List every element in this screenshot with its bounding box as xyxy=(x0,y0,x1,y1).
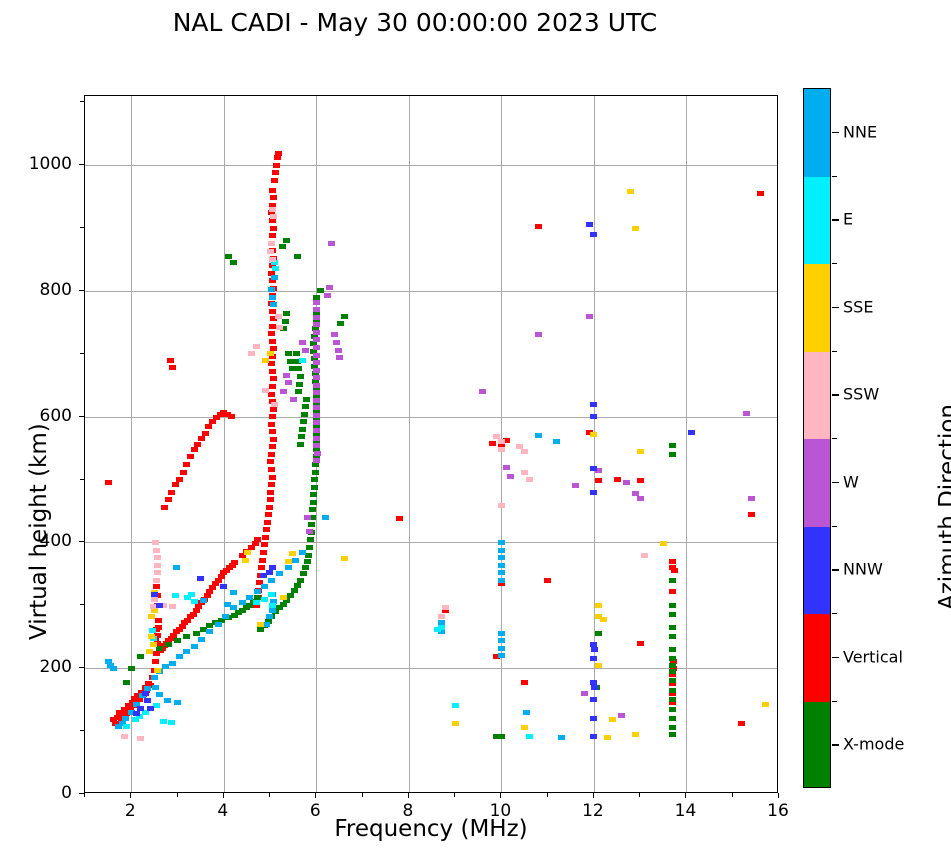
data-point xyxy=(738,721,745,726)
data-point xyxy=(442,605,449,610)
data-point xyxy=(309,507,316,512)
data-point xyxy=(498,503,505,508)
data-point xyxy=(311,477,318,482)
y-axis-minor-tick xyxy=(80,604,84,605)
data-point xyxy=(273,163,280,168)
data-point xyxy=(669,716,676,721)
data-point xyxy=(507,474,514,479)
data-point xyxy=(183,649,190,654)
data-point xyxy=(306,529,313,534)
data-point xyxy=(254,589,261,594)
data-point xyxy=(535,433,542,438)
data-point xyxy=(283,373,290,378)
x-axis-tick-label: 6 xyxy=(310,801,321,821)
page-title: NAL CADI - May 30 00:00:00 2023 UTC xyxy=(0,8,830,37)
data-point xyxy=(590,414,597,419)
data-point xyxy=(295,389,302,394)
data-point xyxy=(498,646,505,651)
data-point xyxy=(275,314,282,319)
y-axis-tick-label: 1000 xyxy=(0,154,72,174)
colorbar-tick xyxy=(832,132,839,133)
data-point xyxy=(269,603,276,608)
x-axis-minor-tick xyxy=(362,793,363,797)
data-point xyxy=(230,605,237,610)
data-point xyxy=(336,355,343,360)
data-point xyxy=(168,490,175,495)
data-point xyxy=(269,475,276,480)
data-point xyxy=(535,332,542,337)
data-point xyxy=(194,442,201,447)
data-point xyxy=(153,584,160,589)
data-point xyxy=(282,319,289,324)
x-axis-minor-tick xyxy=(639,793,640,797)
data-point xyxy=(230,590,237,595)
data-point xyxy=(222,614,229,619)
colorbar-boundary-tick xyxy=(832,613,837,614)
gridline-vertical xyxy=(686,96,687,792)
x-axis-tick-label: 12 xyxy=(582,801,604,821)
data-point xyxy=(268,422,275,427)
data-point xyxy=(688,430,695,435)
gridline-horizontal xyxy=(85,542,777,543)
colorbar-segment-nnw[interactable] xyxy=(804,527,830,615)
data-point xyxy=(307,537,314,542)
x-axis-tick-label: 14 xyxy=(675,801,697,821)
data-point xyxy=(154,570,161,575)
data-point xyxy=(280,389,287,394)
data-point xyxy=(260,550,267,555)
data-point xyxy=(669,612,676,617)
data-point xyxy=(669,678,676,683)
data-point xyxy=(215,622,222,627)
data-point xyxy=(297,442,304,447)
data-point xyxy=(123,724,130,729)
data-point xyxy=(396,516,403,521)
data-point xyxy=(300,571,307,576)
data-point xyxy=(331,332,338,337)
data-point xyxy=(191,599,198,604)
x-axis-minor-tick xyxy=(547,793,548,797)
colorbar-tick xyxy=(832,219,839,220)
data-point xyxy=(671,568,678,573)
data-point xyxy=(290,397,297,402)
data-point xyxy=(743,411,750,416)
data-point xyxy=(224,602,231,607)
data-point xyxy=(535,224,542,229)
gridline-vertical xyxy=(224,96,225,792)
gridline-vertical xyxy=(409,96,410,792)
y-axis-tick xyxy=(79,164,84,165)
colorbar-tick xyxy=(832,394,839,395)
data-point xyxy=(271,402,278,407)
data-point xyxy=(272,170,279,175)
data-point xyxy=(268,592,275,597)
colorbar-segment-e[interactable] xyxy=(804,177,830,265)
data-point xyxy=(270,302,277,307)
data-point xyxy=(498,540,505,545)
y-axis-minor-tick xyxy=(80,353,84,354)
data-point xyxy=(168,720,175,725)
data-point xyxy=(161,505,168,510)
colorbar-boundary-tick xyxy=(832,176,837,177)
data-point xyxy=(669,707,676,712)
data-point xyxy=(268,467,275,472)
data-point xyxy=(337,321,344,326)
data-point xyxy=(269,188,276,193)
data-point xyxy=(306,545,313,550)
data-point xyxy=(526,477,533,482)
data-point xyxy=(285,565,292,570)
data-point xyxy=(202,431,209,436)
x-axis-minor-tick xyxy=(84,793,85,797)
data-point xyxy=(293,351,300,356)
data-point xyxy=(303,397,310,402)
data-point xyxy=(301,412,308,417)
data-point xyxy=(262,535,269,540)
data-point xyxy=(572,483,579,488)
data-point xyxy=(198,637,205,642)
data-point xyxy=(299,550,306,555)
x-axis-tick xyxy=(500,793,501,798)
gridline-horizontal xyxy=(85,291,777,292)
data-point xyxy=(270,437,277,442)
data-point xyxy=(762,702,769,707)
data-point xyxy=(160,719,167,724)
data-point xyxy=(757,191,764,196)
x-axis-tick xyxy=(593,793,594,798)
colorbar-tick xyxy=(832,569,839,570)
data-point xyxy=(269,339,276,344)
data-point xyxy=(308,522,315,527)
data-point xyxy=(261,597,268,602)
data-point xyxy=(669,647,676,652)
data-point xyxy=(180,470,187,475)
data-point xyxy=(268,331,275,336)
data-point xyxy=(669,725,676,730)
data-point xyxy=(169,604,176,609)
data-point xyxy=(269,233,276,238)
data-point xyxy=(123,680,130,685)
data-point xyxy=(632,226,639,231)
data-point xyxy=(313,322,320,327)
data-point xyxy=(287,593,294,598)
data-point xyxy=(498,631,505,636)
x-axis-tick xyxy=(685,793,686,798)
data-point xyxy=(669,578,676,583)
data-point xyxy=(304,559,311,564)
data-point xyxy=(498,653,505,658)
data-point xyxy=(313,405,320,410)
data-point xyxy=(110,666,117,671)
data-point xyxy=(493,434,500,439)
data-point xyxy=(267,351,274,356)
x-axis-tick-label: 8 xyxy=(402,801,413,821)
data-point xyxy=(279,244,286,249)
data-point xyxy=(176,654,183,659)
data-point xyxy=(270,226,277,231)
colorbar-boundary-tick xyxy=(832,701,837,702)
data-point xyxy=(523,710,530,715)
data-point xyxy=(498,548,505,553)
data-point xyxy=(314,451,321,456)
data-point xyxy=(275,151,282,156)
data-point xyxy=(149,628,156,633)
data-point xyxy=(154,555,161,560)
data-point xyxy=(148,614,155,619)
data-point xyxy=(269,295,276,300)
data-point xyxy=(188,592,195,597)
data-point xyxy=(498,638,505,643)
colorbar-boundary-tick xyxy=(832,526,837,527)
data-point xyxy=(660,541,667,546)
ionogram-chart: NAL CADI - May 30 00:00:00 2023 UTC Freq… xyxy=(0,0,951,856)
data-point xyxy=(146,649,153,654)
data-point xyxy=(270,407,277,412)
data-point xyxy=(183,462,190,467)
data-point xyxy=(269,429,276,434)
data-point xyxy=(271,178,278,183)
colorbar-segment-x-mode[interactable] xyxy=(804,702,830,789)
data-point xyxy=(669,443,676,448)
data-point xyxy=(262,358,269,363)
data-point xyxy=(191,447,198,452)
data-point xyxy=(198,436,205,441)
data-point xyxy=(335,348,342,353)
data-point xyxy=(298,434,305,439)
data-point xyxy=(128,666,135,671)
data-point xyxy=(151,592,158,597)
colorbar-segment-ssw[interactable] xyxy=(804,352,830,440)
data-point xyxy=(268,361,275,366)
data-point xyxy=(590,466,597,471)
data-point xyxy=(313,390,320,395)
data-point xyxy=(294,254,301,259)
data-point xyxy=(498,563,505,568)
data-point xyxy=(590,734,597,739)
data-point xyxy=(244,550,251,555)
data-point xyxy=(591,647,598,652)
colorbar-boundary-tick xyxy=(832,263,837,264)
data-point xyxy=(225,254,232,259)
gridline-vertical xyxy=(131,96,132,792)
data-point xyxy=(498,570,505,575)
x-axis-tick-label: 10 xyxy=(490,801,512,821)
data-point xyxy=(313,458,320,463)
data-point xyxy=(152,659,159,664)
data-point xyxy=(296,382,303,387)
data-point xyxy=(254,537,261,542)
data-point xyxy=(553,439,560,444)
data-point xyxy=(121,734,128,739)
data-point xyxy=(268,482,275,487)
data-point xyxy=(154,668,161,673)
data-point xyxy=(228,414,235,419)
data-point xyxy=(313,353,320,358)
y-axis-minor-tick xyxy=(80,227,84,228)
data-point xyxy=(313,345,320,350)
data-point xyxy=(137,736,144,741)
data-point xyxy=(142,691,149,696)
data-point xyxy=(262,388,269,393)
data-point xyxy=(310,500,317,505)
data-point xyxy=(266,505,273,510)
data-point xyxy=(669,625,676,630)
data-point xyxy=(283,311,290,316)
data-point xyxy=(503,465,510,470)
data-point xyxy=(269,414,276,419)
data-point xyxy=(333,340,340,345)
data-point xyxy=(302,348,309,353)
data-point xyxy=(313,360,320,365)
x-axis-tick xyxy=(778,793,779,798)
data-point xyxy=(169,661,176,666)
gridline-horizontal xyxy=(85,417,777,418)
data-point xyxy=(253,600,260,605)
data-point xyxy=(266,614,273,619)
colorbar-segment-vertical[interactable] xyxy=(804,614,830,702)
data-point xyxy=(313,300,320,305)
data-point xyxy=(150,642,157,647)
data-point xyxy=(632,732,639,737)
data-point xyxy=(590,697,597,702)
data-point xyxy=(313,420,320,425)
data-point xyxy=(493,734,500,739)
data-point xyxy=(285,380,292,385)
data-point xyxy=(152,540,159,545)
data-point xyxy=(206,629,213,634)
colorbar-segment-w[interactable] xyxy=(804,439,830,527)
data-point xyxy=(609,717,616,722)
data-point xyxy=(269,257,276,262)
data-point xyxy=(156,603,163,608)
data-point xyxy=(267,249,274,254)
data-point xyxy=(248,351,255,356)
data-point xyxy=(151,675,158,680)
data-point xyxy=(270,195,277,200)
data-point xyxy=(669,732,676,737)
colorbar-segment-nne[interactable] xyxy=(804,89,830,177)
data-point xyxy=(151,597,158,602)
data-point xyxy=(590,432,597,437)
data-point xyxy=(269,444,276,449)
x-axis-tick-label: 4 xyxy=(217,801,228,821)
data-point xyxy=(259,558,266,563)
data-point xyxy=(544,578,551,583)
data-point xyxy=(133,711,140,716)
data-point xyxy=(257,622,264,627)
x-axis-tick-label: 16 xyxy=(767,801,789,821)
data-point xyxy=(153,578,160,583)
colorbar-label-w: W xyxy=(843,472,859,491)
data-point xyxy=(669,589,676,594)
data-point xyxy=(144,698,151,703)
data-point xyxy=(641,553,648,558)
data-point xyxy=(297,374,304,379)
data-point xyxy=(152,685,159,690)
data-point xyxy=(295,366,302,371)
data-point xyxy=(341,314,348,319)
colorbar[interactable] xyxy=(803,88,831,788)
data-point xyxy=(283,238,290,243)
y-axis-tick-label: 600 xyxy=(0,406,72,426)
y-axis-minor-tick xyxy=(80,101,84,102)
data-point xyxy=(669,634,676,639)
data-point xyxy=(299,427,306,432)
data-point xyxy=(669,669,676,674)
x-axis-minor-tick xyxy=(454,793,455,797)
data-point xyxy=(260,573,267,578)
data-point xyxy=(313,330,320,335)
data-point xyxy=(164,698,171,703)
data-point xyxy=(173,565,180,570)
data-point xyxy=(197,576,204,581)
colorbar-tick xyxy=(832,307,839,308)
data-point xyxy=(268,578,275,583)
data-point xyxy=(200,598,207,603)
colorbar-label: Azimuth Direction xyxy=(935,404,951,610)
data-point xyxy=(276,325,283,330)
data-point xyxy=(590,656,597,661)
data-point xyxy=(637,478,644,483)
data-point xyxy=(669,452,676,457)
colorbar-tick xyxy=(832,744,839,745)
data-point xyxy=(239,600,246,605)
data-point xyxy=(313,436,320,441)
data-point xyxy=(172,593,179,598)
data-point xyxy=(269,207,276,212)
data-point xyxy=(313,428,320,433)
data-point xyxy=(269,384,276,389)
data-point xyxy=(581,691,588,696)
data-point xyxy=(595,614,602,619)
data-point xyxy=(268,241,275,246)
data-point xyxy=(268,287,275,292)
colorbar-boundary-tick xyxy=(832,438,837,439)
data-point xyxy=(627,189,634,194)
colorbar-segment-sse[interactable] xyxy=(804,264,830,352)
data-point xyxy=(590,402,597,407)
data-point xyxy=(285,351,292,356)
data-point xyxy=(586,222,593,227)
data-point xyxy=(595,603,602,608)
data-point xyxy=(521,470,528,475)
data-point xyxy=(313,368,320,373)
data-point xyxy=(595,631,602,636)
y-axis-tick-label: 800 xyxy=(0,280,72,300)
data-point xyxy=(637,449,644,454)
y-axis-tick xyxy=(79,416,84,417)
data-point xyxy=(187,454,194,459)
data-point xyxy=(258,565,265,570)
data-point xyxy=(438,614,445,619)
data-point xyxy=(148,634,155,639)
data-point xyxy=(289,551,296,556)
data-point xyxy=(261,542,268,547)
data-point xyxy=(595,478,602,483)
data-point xyxy=(313,443,320,448)
data-point xyxy=(322,515,329,520)
y-axis-tick-label: 400 xyxy=(0,531,72,551)
data-point xyxy=(297,578,304,583)
colorbar-label-e: E xyxy=(843,210,853,229)
x-axis-minor-tick xyxy=(732,793,733,797)
y-axis-tick-label: 0 xyxy=(0,783,72,803)
data-point xyxy=(153,703,160,708)
data-point xyxy=(302,404,309,409)
data-point xyxy=(105,480,112,485)
data-point xyxy=(498,439,505,444)
data-point xyxy=(165,642,172,647)
